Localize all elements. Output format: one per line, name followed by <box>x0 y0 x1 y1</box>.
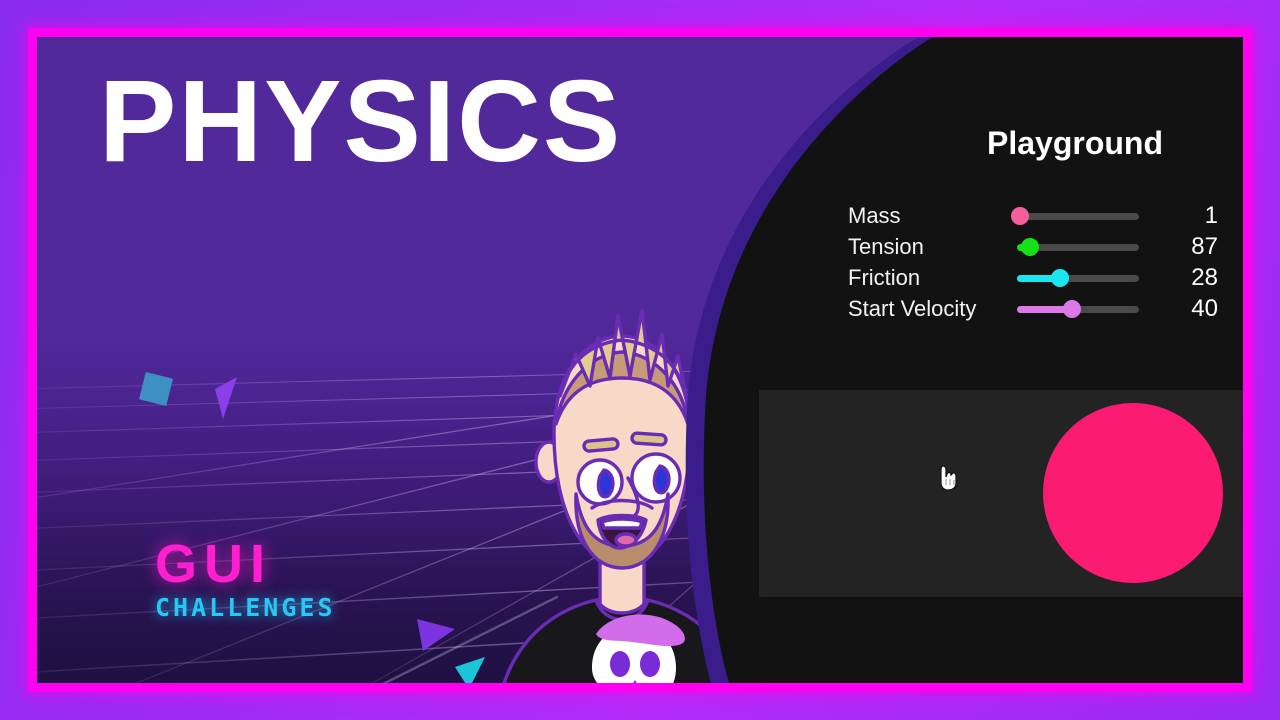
control-label: Mass <box>848 203 1017 229</box>
brand-logo: GUI CHALLENGES <box>155 537 336 620</box>
mouse-cursor-pointer-icon <box>938 465 960 491</box>
slider-track[interactable] <box>1017 213 1139 220</box>
playground-canvas[interactable] <box>759 390 1243 597</box>
control-label: Friction <box>848 265 1017 291</box>
shape-triangle-3 <box>455 657 485 683</box>
video-frame: PHYSICS GUI CHALLENGES <box>0 0 1280 720</box>
panel-footer <box>767 597 1243 683</box>
slider-thumb[interactable] <box>1021 238 1039 256</box>
slider-tension[interactable] <box>1017 235 1137 259</box>
controls-list: Mass 1 Tension <box>848 200 1218 324</box>
slider-thumb[interactable] <box>1011 207 1029 225</box>
control-row-friction: Friction 28 <box>848 262 1218 293</box>
physics-ball[interactable] <box>1043 403 1223 583</box>
control-value: 1 <box>1137 202 1218 230</box>
brand-logo-challenges: CHALLENGES <box>155 595 336 620</box>
shape-triangle-2 <box>417 619 455 651</box>
page-title: PHYSICS <box>99 63 622 179</box>
shape-square <box>139 372 173 406</box>
control-value: 87 <box>1137 233 1218 261</box>
panel-heading: Playground <box>987 125 1163 162</box>
video-stage: PHYSICS GUI CHALLENGES <box>37 37 1243 683</box>
control-row-start-velocity: Start Velocity 40 <box>848 293 1218 324</box>
slider-thumb[interactable] <box>1063 300 1081 318</box>
control-row-mass: Mass 1 <box>848 200 1218 231</box>
slider-friction[interactable] <box>1017 266 1137 290</box>
slider-thumb[interactable] <box>1051 269 1069 287</box>
shirt-skull-icon <box>592 615 685 683</box>
brand-logo-gui: GUI <box>155 537 336 591</box>
control-label: Tension <box>848 234 1017 260</box>
control-label: Start Velocity <box>848 296 1017 322</box>
control-value: 40 <box>1137 295 1218 323</box>
control-value: 28 <box>1137 264 1218 292</box>
slider-mass[interactable] <box>1017 204 1137 228</box>
shape-triangle-1 <box>215 377 237 419</box>
control-row-tension: Tension 87 <box>848 231 1218 262</box>
slider-start-velocity[interactable] <box>1017 297 1137 321</box>
